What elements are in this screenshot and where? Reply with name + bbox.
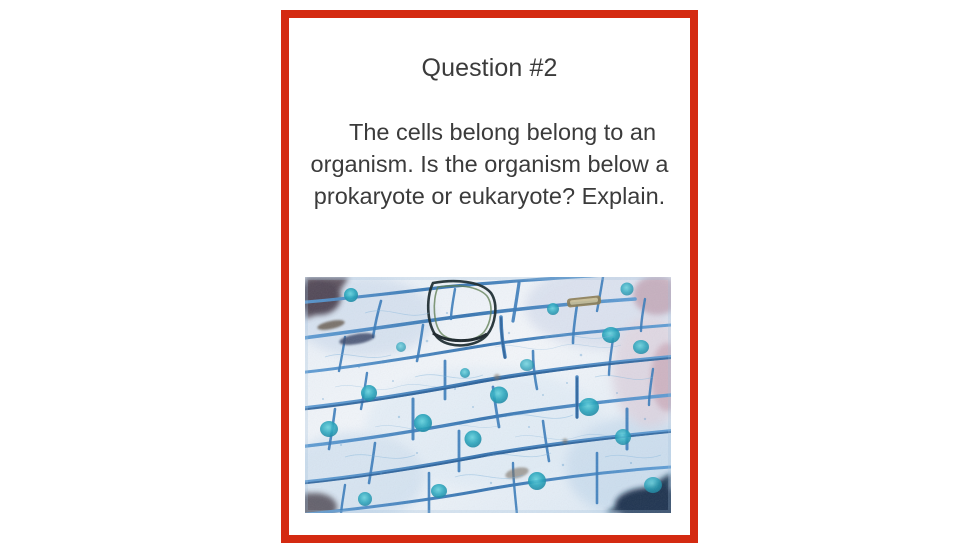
page-title: Question #2	[289, 53, 690, 83]
question-text: The cells belong belong to an organism. …	[299, 116, 680, 212]
slide-frame: Question #2 The cells belong belong to a…	[281, 10, 698, 543]
slide-content: Question #2 The cells belong belong to a…	[289, 18, 690, 535]
onion-epidermis-micrograph	[305, 277, 671, 513]
micrograph-svg	[305, 277, 671, 513]
slide-canvas: Question #2 The cells belong belong to a…	[0, 0, 978, 550]
